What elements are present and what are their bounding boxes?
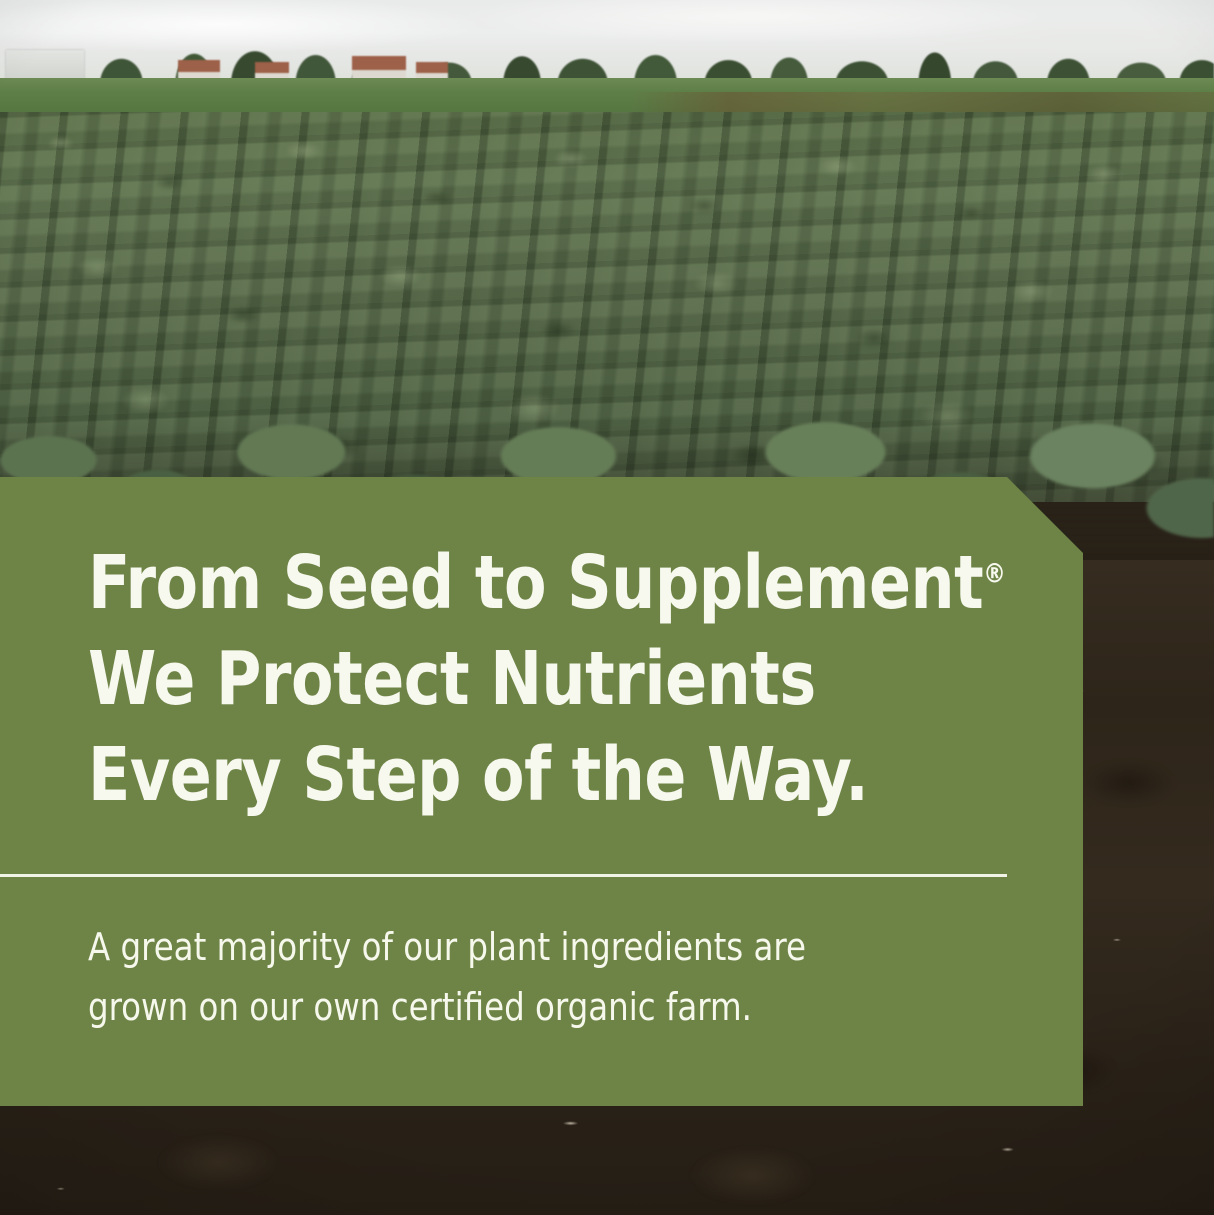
- headline-line-1-text: From Seed to Supplement: [88, 540, 983, 626]
- subcopy-line-1: A great majority of our plant ingredient…: [88, 917, 1000, 977]
- farmhouse: [178, 60, 220, 80]
- headline-line-3: Every Step of the Way.: [88, 727, 981, 823]
- subcopy: A great majority of our plant ingredient…: [88, 917, 1000, 1037]
- farmhouse: [352, 56, 406, 80]
- message-panel-content: From Seed to Supplement® We Protect Nutr…: [0, 477, 1083, 1106]
- divider-rule: [0, 874, 1007, 877]
- headline-line-2: We Protect Nutrients: [88, 631, 981, 727]
- registered-trademark-icon: ®: [983, 558, 1006, 589]
- headline: From Seed to Supplement® We Protect Nutr…: [88, 535, 981, 823]
- promotional-banner: From Seed to Supplement® We Protect Nutr…: [0, 0, 1214, 1215]
- subcopy-line-2: grown on our own certified organic farm.: [88, 977, 1000, 1037]
- headline-line-1: From Seed to Supplement®: [88, 535, 981, 631]
- message-panel: From Seed to Supplement® We Protect Nutr…: [0, 477, 1083, 1106]
